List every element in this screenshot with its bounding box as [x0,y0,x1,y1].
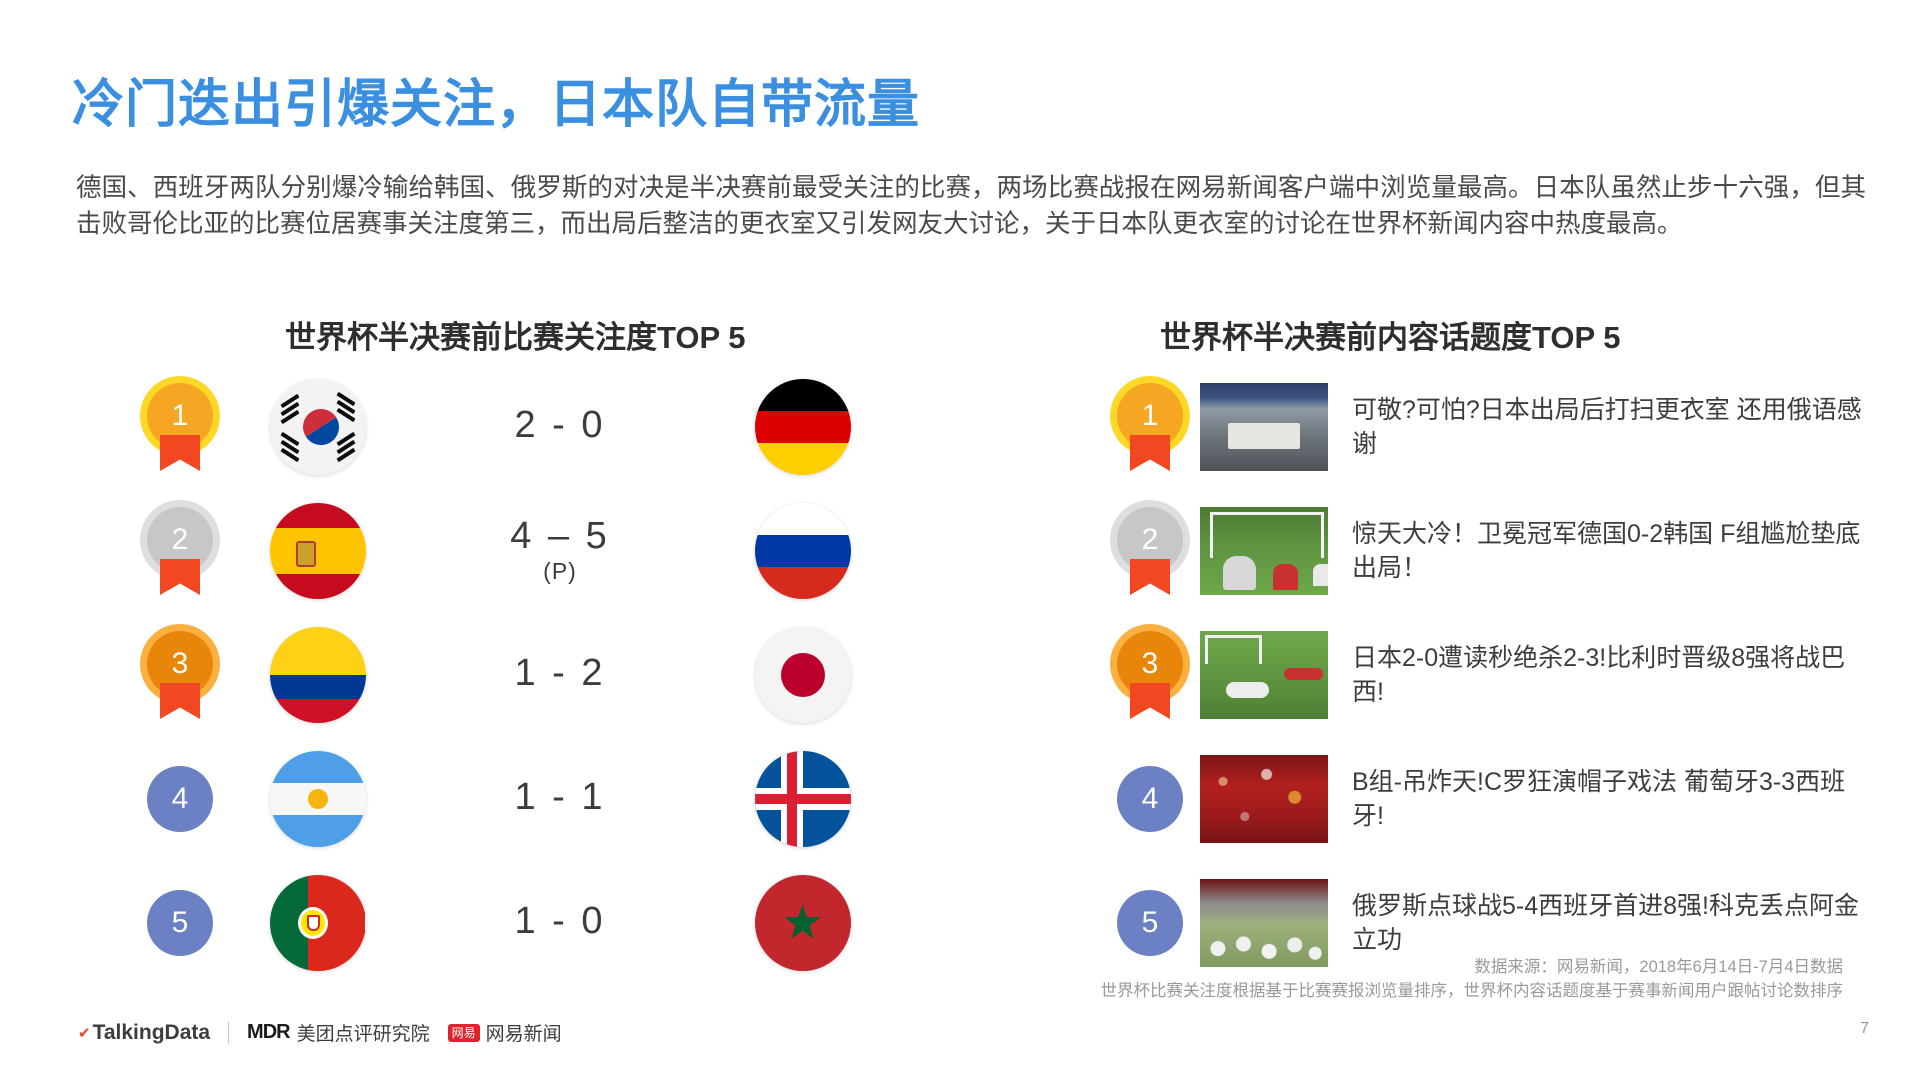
netease-logo: 网易 网易新闻 [448,1019,562,1046]
source-note: 数据来源：网易新闻，2018年6月14日-7月4日数据 世界杯比赛关注度根据基于… [1101,955,1844,1005]
flag-cell-home [230,503,405,599]
page-title: 冷门迭出引爆关注，日本队自带流量 [72,62,920,137]
flag-argentina-icon [270,751,366,847]
flag-portugal-icon [270,875,366,971]
match-row: 3 1 - 2 [130,626,890,724]
right-section-heading: 世界杯半决赛前内容话题度TOP 5 [1160,312,1620,357]
rank-cell: 2 [1100,507,1200,595]
check-icon: ✔ [78,1024,91,1042]
news-row[interactable]: 1 可敬?可怕?日本出局后打扫更衣室 还用俄语感谢 [1100,378,1880,476]
score-text: 1 - 0 [514,902,605,942]
rank-badge: 5 [1117,890,1183,956]
flag-japan-icon [755,627,851,723]
news-thumbnail-japan-belgium [1200,631,1328,719]
flag-cell-away [715,751,890,847]
match-row: 2 4 – 5 (P) [130,502,890,600]
score-cell: 4 – 5 (P) [405,517,715,586]
match-row: 1 2 - 0 [130,378,890,476]
score-text: 4 – 5 [510,517,610,557]
news-row[interactable]: 4 B组-吊炸天!C罗狂演帽子戏法 葡萄牙3-3西班牙! [1100,750,1880,848]
lede-paragraph: 德国、西班牙两队分别爆冷输给韩国、俄罗斯的对决是半决赛前最受关注的比赛，两场比赛… [76,170,1866,242]
news-row[interactable]: 2 惊天大冷！卫冕冠军德国0-2韩国 F组尴尬垫底出局！ [1100,502,1880,600]
match-row: 4 1 - 1 [130,750,890,848]
mdr-logo: MDR 美团点评研究院 [247,1019,430,1046]
page-number: 7 [1860,1020,1869,1038]
flag-cell-away [715,379,890,475]
flag-cell-home [230,875,405,971]
ribbon-icon [160,435,200,471]
score-text: 1 - 2 [514,654,605,694]
rank-cell: 5 [1100,890,1200,956]
left-section-heading: 世界杯半决赛前比赛关注度TOP 5 [285,312,745,357]
rank-cell: 5 [130,890,230,956]
news-headline[interactable]: 可敬?可怕?日本出局后打扫更衣室 还用俄语感谢 [1352,393,1880,461]
medal-bronze-icon: 3 [147,631,213,719]
rank-cell: 1 [130,383,230,471]
rank-cell: 4 [130,766,230,832]
flag-cell-home [230,627,405,723]
netease-logo-mark: 网易 [448,1024,480,1042]
news-headline[interactable]: 日本2-0遭读秒绝杀2-3!比利时晋级8强将战巴西! [1352,641,1880,709]
flag-cell-home [230,379,405,475]
match-attention-list: 1 2 - 0 [130,378,890,998]
rank-badge: 4 [147,766,213,832]
divider [228,1022,229,1044]
rank-cell: 3 [130,631,230,719]
netease-logo-text: 网易新闻 [486,1019,562,1046]
news-thumbnail-locker-room [1200,383,1328,471]
ribbon-icon [160,683,200,719]
rank-badge: 4 [1117,766,1183,832]
mdr-logo-mark: MDR [247,1021,290,1044]
flag-russia-icon [755,503,851,599]
flag-cell-away [715,503,890,599]
rank-cell: 3 [1100,631,1200,719]
ribbon-icon [1130,559,1170,595]
news-headline[interactable]: 俄罗斯点球战5-4西班牙首进8强!科克丢点阿金立功 [1352,889,1880,957]
flag-korea-icon [270,379,366,475]
source-line-2: 世界杯比赛关注度根据基于比赛赛报浏览量排序，世界杯内容话题度基于赛事新闻用户跟帖… [1101,979,1844,1004]
ribbon-icon [1130,435,1170,471]
match-row: 5 1 - 0 [130,874,890,972]
flag-colombia-icon [270,627,366,723]
medal-bronze-icon: 3 [1117,631,1183,719]
flag-morocco-icon [755,875,851,971]
news-headline[interactable]: B组-吊炸天!C罗狂演帽子戏法 葡萄牙3-3西班牙! [1352,765,1880,833]
medal-silver-icon: 2 [147,507,213,595]
score-cell: 2 - 0 [405,406,715,448]
flag-cell-home [230,751,405,847]
score-text: 2 - 0 [514,406,605,446]
logo-bar: ✔ TalkingData MDR 美团点评研究院 网易 网易新闻 [78,1019,562,1046]
score-cell: 1 - 1 [405,778,715,820]
score-cell: 1 - 0 [405,902,715,944]
score-cell: 1 - 2 [405,654,715,696]
score-text: 1 - 1 [514,778,605,818]
mdr-logo-text: 美团点评研究院 [297,1019,430,1046]
flag-spain-icon [270,503,366,599]
rank-badge: 5 [147,890,213,956]
talkingdata-logo-text: TalkingData [93,1021,210,1045]
rank-cell: 4 [1100,766,1200,832]
source-line-1: 数据来源：网易新闻，2018年6月14日-7月4日数据 [1101,955,1844,980]
slide-root: 冷门迭出引爆关注，日本队自带流量 德国、西班牙两队分别爆冷输给韩国、俄罗斯的对决… [0,0,1921,1080]
flag-cell-away [715,875,890,971]
medal-gold-icon: 1 [147,383,213,471]
news-headline[interactable]: 惊天大冷！卫冕冠军德国0-2韩国 F组尴尬垫底出局！ [1352,517,1880,585]
news-topic-list: 1 可敬?可怕?日本出局后打扫更衣室 还用俄语感谢 2 惊天大冷！卫冕冠军德国0… [1100,378,1880,998]
rank-cell: 2 [130,507,230,595]
rank-cell: 1 [1100,383,1200,471]
ribbon-icon [1130,683,1170,719]
flag-germany-icon [755,379,851,475]
flag-cell-away [715,627,890,723]
news-row[interactable]: 3 日本2-0遭读秒绝杀2-3!比利时晋级8强将战巴西! [1100,626,1880,724]
medal-silver-icon: 2 [1117,507,1183,595]
score-note: (P) [543,558,577,585]
ribbon-icon [160,559,200,595]
medal-gold-icon: 1 [1117,383,1183,471]
news-thumbnail-goalkeeper-save [1200,507,1328,595]
news-thumbnail-crowd-celebration [1200,755,1328,843]
flag-iceland-icon [755,751,851,847]
talkingdata-logo: ✔ TalkingData [78,1021,210,1045]
